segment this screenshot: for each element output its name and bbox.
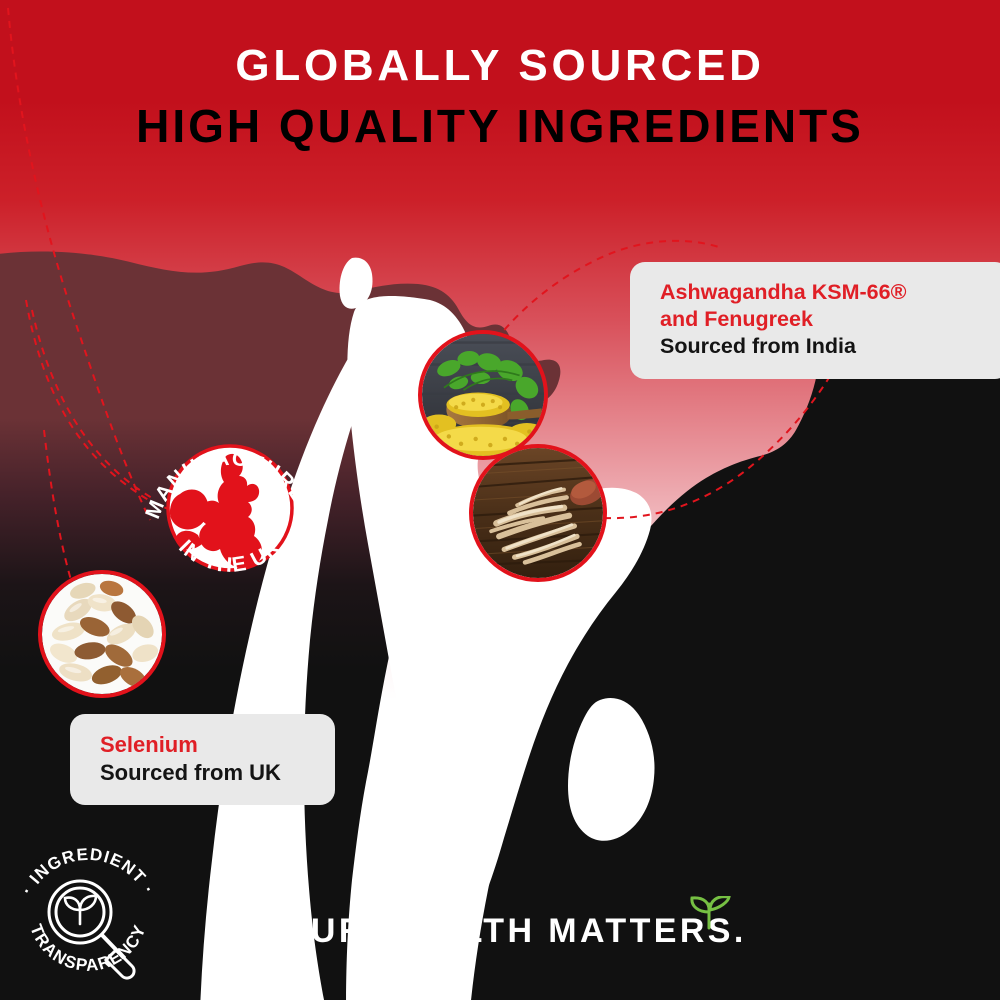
sprout-glyph xyxy=(65,896,96,924)
title-line-2: HIGH QUALITY INGREDIENTS xyxy=(0,103,1000,150)
india-source-line: Sourced from India xyxy=(660,333,986,360)
manufactured-in-uk-badge: MANUFACTURED IN THE UK xyxy=(140,418,320,598)
uk-source-line: Sourced from UK xyxy=(100,759,311,787)
uk-source-label: Selenium Sourced from UK xyxy=(70,714,335,805)
sprout-icon xyxy=(688,896,732,930)
dash-selenium-drop xyxy=(44,430,74,590)
infographic-canvas: GLOBALLY SOURCED HIGH QUALITY INGREDIENT… xyxy=(0,0,1000,1000)
page-title: GLOBALLY SOURCED HIGH QUALITY INGREDIENT… xyxy=(0,44,1000,150)
footer-tagline: YOUR HEALTH MATTERS. xyxy=(255,912,747,958)
title-line-1: GLOBALLY SOURCED xyxy=(0,44,1000,89)
fenugreek-photo xyxy=(418,330,548,460)
uk-ingredient-line: Selenium xyxy=(100,731,311,759)
ashwagandha-photo xyxy=(469,444,607,582)
india-ingredient-line-2: and Fenugreek xyxy=(660,306,986,333)
india-source-label: Ashwagandha KSM-66® and Fenugreek Source… xyxy=(630,262,1000,379)
india-ingredient-line-1: Ashwagandha KSM-66® xyxy=(660,279,986,306)
ingredient-transparency-badge: · INGREDIENT · TRANSPARENCY xyxy=(8,838,168,988)
